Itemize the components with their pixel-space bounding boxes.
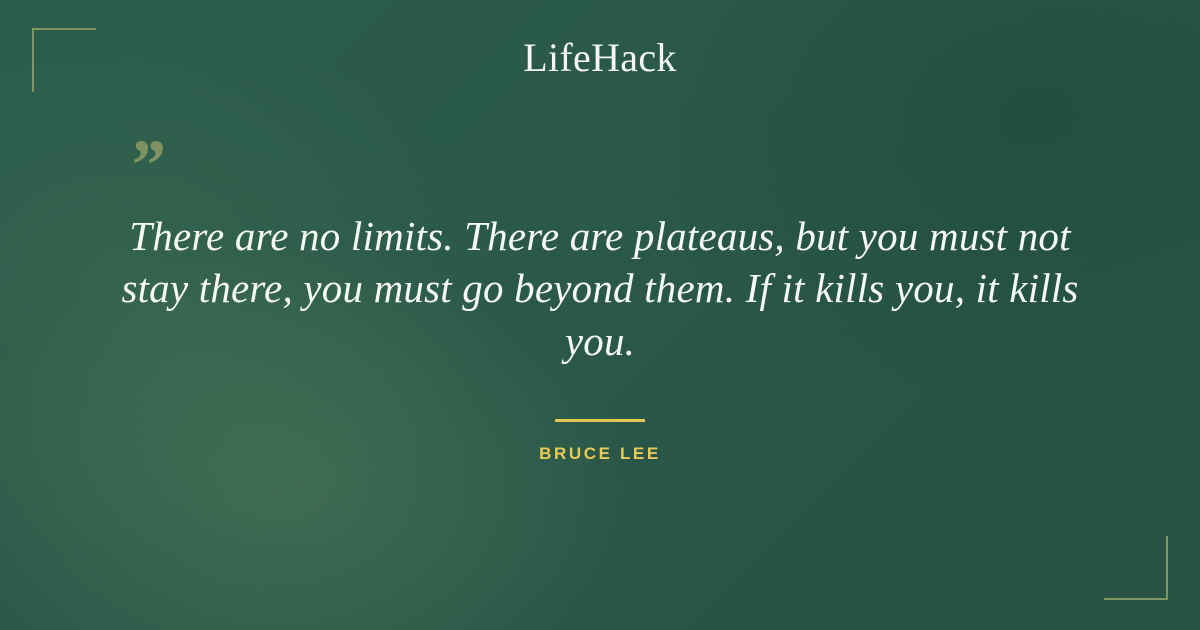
corner-bracket-bottom-right-icon [1104,536,1168,600]
divider [555,419,645,422]
quote-content: ” There are no limits. There are plateau… [0,140,1200,464]
quote-text: There are no limits. There are plateaus,… [120,210,1080,367]
quotation-mark-icon: ” [128,140,1200,184]
quote-card: LifeHack ” There are no limits. There ar… [0,0,1200,630]
quote-line: There are no limits. There are plateaus,… [120,210,1080,262]
brand-logo: LifeHack [0,38,1200,78]
quote-line: stay there, you must go beyond them. If … [120,262,1080,314]
quote-line: you. [120,315,1080,367]
quote-author: BRUCE LEE [0,444,1200,464]
